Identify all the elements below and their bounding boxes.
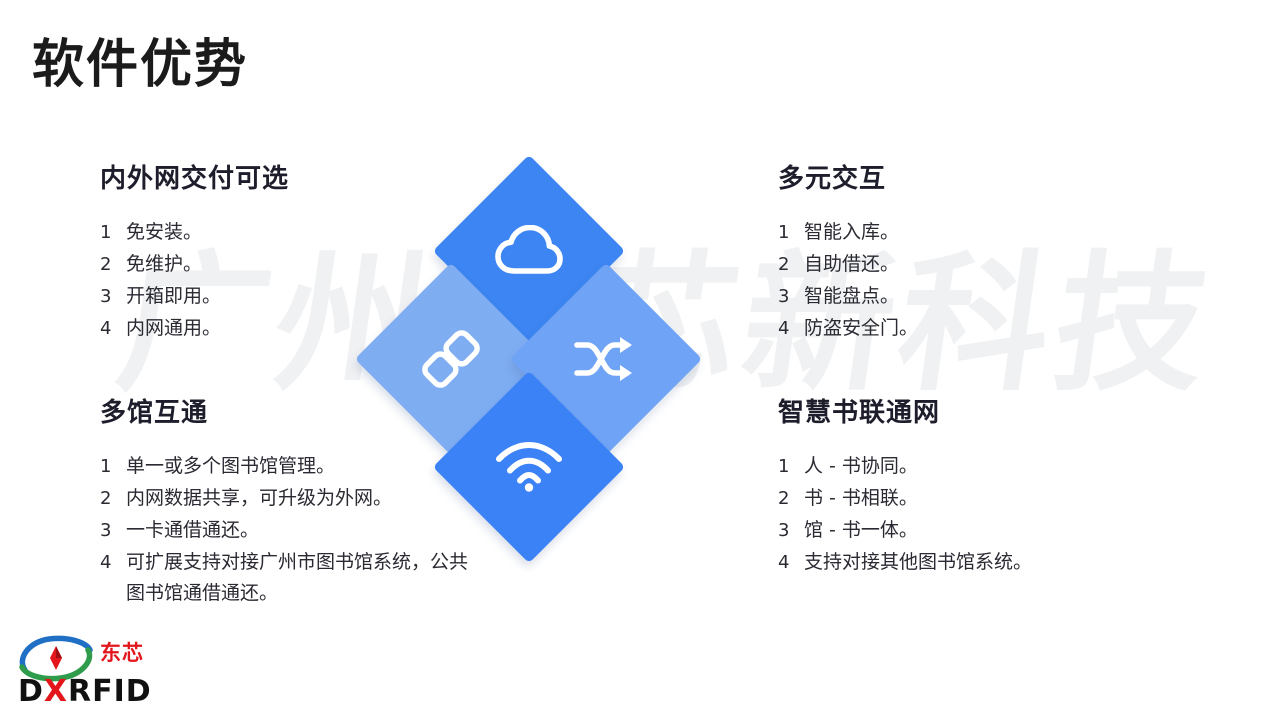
list-item-text: 免安装。: [126, 217, 430, 248]
list-item-text: 人 - 书协同。: [804, 451, 1138, 482]
content-block-multi-library-interop: 多馆互通 1 单一或多个图书馆管理。 2 内网数据共享，可升级为外网。 3 一卡…: [100, 392, 475, 610]
feature-list: 1 免安装。 2 免维护。 3 开箱即用。 4 内网通用。: [100, 217, 430, 344]
list-item-number: 3: [778, 281, 804, 312]
list-item-number: 3: [100, 515, 126, 546]
list-item: 2 免维护。: [100, 249, 430, 280]
list-item-text: 智能入库。: [804, 217, 1138, 248]
list-item: 4 防盗安全门。: [778, 313, 1138, 344]
logo-word-suffix: RFID: [68, 674, 152, 709]
list-item-text: 馆 - 书一体。: [804, 515, 1138, 546]
logo-word-accent: X: [44, 674, 68, 709]
list-item-number: 1: [778, 451, 804, 482]
list-item-text: 支持对接其他图书馆系统。: [804, 547, 1138, 578]
list-item-number: 4: [100, 313, 126, 344]
list-item-number: 4: [778, 547, 804, 578]
list-item-text: 开箱即用。: [126, 281, 430, 312]
block-heading: 多元交互: [778, 158, 1138, 195]
list-item-text: 内网通用。: [126, 313, 430, 344]
list-item-number: 3: [778, 515, 804, 546]
list-item-number: 3: [100, 281, 126, 312]
list-item: 3 馆 - 书一体。: [778, 515, 1138, 546]
page-title: 软件优势: [32, 22, 248, 97]
list-item-number: 2: [778, 483, 804, 514]
company-logo: 东芯 DXRFID: [16, 634, 186, 708]
list-item: 1 免安装。: [100, 217, 430, 248]
content-block-smart-book-network: 智慧书联通网 1 人 - 书协同。 2 书 - 书相联。 3 馆 - 书一体。 …: [778, 392, 1138, 579]
list-item-number: 1: [100, 217, 126, 248]
list-item: 1 人 - 书协同。: [778, 451, 1138, 482]
list-item-text: 内网数据共享，可升级为外网。: [126, 483, 475, 514]
list-item: 4 可扩展支持对接广州市图书馆系统，公共图书馆通借通还。: [100, 547, 475, 609]
list-item: 2 书 - 书相联。: [778, 483, 1138, 514]
list-item-text: 一卡通借通还。: [126, 515, 475, 546]
list-item-text: 书 - 书相联。: [804, 483, 1138, 514]
list-item: 3 开箱即用。: [100, 281, 430, 312]
list-item: 2 内网数据共享，可升级为外网。: [100, 483, 475, 514]
list-item-number: 1: [100, 451, 126, 482]
list-item: 4 支持对接其他图书馆系统。: [778, 547, 1138, 578]
list-item-text: 免维护。: [126, 249, 430, 280]
list-item-text: 自助借还。: [804, 249, 1138, 280]
logo-wordmark: DXRFID: [18, 674, 152, 709]
list-item: 4 内网通用。: [100, 313, 430, 344]
slide-canvas: 广州东芯新科技 软件优势 内外网交付可选 1 免安装。 2 免维护。 3 开箱即…: [0, 0, 1280, 720]
list-item-text: 可扩展支持对接广州市图书馆系统，公共图书馆通借通还。: [126, 547, 475, 609]
list-item: 1 智能入库。: [778, 217, 1138, 248]
list-item: 2 自助借还。: [778, 249, 1138, 280]
logo-chinese-name: 东芯: [100, 637, 144, 667]
list-item-text: 智能盘点。: [804, 281, 1138, 312]
list-item-number: 4: [778, 313, 804, 344]
list-item-number: 1: [778, 217, 804, 248]
list-item-number: 2: [100, 249, 126, 280]
feature-list: 1 人 - 书协同。 2 书 - 书相联。 3 馆 - 书一体。 4 支持对接其…: [778, 451, 1138, 578]
feature-list: 1 智能入库。 2 自助借还。 3 智能盘点。 4 防盗安全门。: [778, 217, 1138, 344]
logo-word-prefix: D: [18, 674, 44, 709]
list-item-number: 2: [100, 483, 126, 514]
content-block-multi-modal-interaction: 多元交互 1 智能入库。 2 自助借还。 3 智能盘点。 4 防盗安全门。: [778, 158, 1138, 345]
list-item-text: 防盗安全门。: [804, 313, 1138, 344]
block-heading: 智慧书联通网: [778, 392, 1138, 429]
block-heading: 多馆互通: [100, 392, 475, 429]
list-item: 1 单一或多个图书馆管理。: [100, 451, 475, 482]
list-item: 3 一卡通借通还。: [100, 515, 475, 546]
feature-list: 1 单一或多个图书馆管理。 2 内网数据共享，可升级为外网。 3 一卡通借通还。…: [100, 451, 475, 609]
wifi-icon: [461, 399, 597, 535]
list-item-number: 2: [778, 249, 804, 280]
list-item: 3 智能盘点。: [778, 281, 1138, 312]
list-item-number: 4: [100, 547, 126, 578]
block-heading: 内外网交付可选: [100, 158, 430, 195]
content-block-inner-outer-network: 内外网交付可选 1 免安装。 2 免维护。 3 开箱即用。 4 内网通用。: [100, 158, 430, 345]
list-item-text: 单一或多个图书馆管理。: [126, 451, 475, 482]
